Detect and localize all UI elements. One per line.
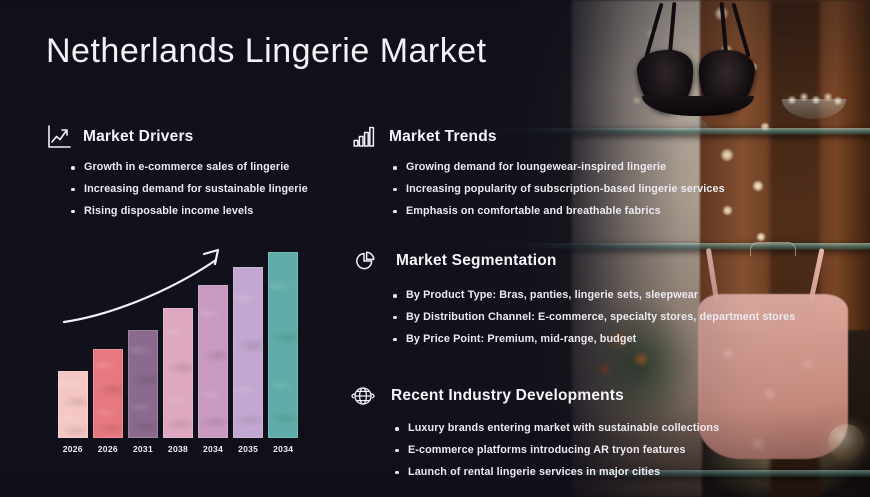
chart-x-label: 2038 — [163, 444, 193, 454]
chart-bar — [198, 285, 228, 438]
section-market-trends: Market Trends Growing demand for loungew… — [352, 124, 725, 228]
list-item: By Product Type: Bras, panties, lingerie… — [390, 290, 795, 302]
section-header: Market Trends — [352, 124, 725, 150]
bullet-list: Luxury brands entering market with susta… — [392, 423, 719, 479]
section-header: Market Drivers — [46, 124, 308, 150]
chart-bar — [268, 252, 298, 438]
bullet-list: By Product Type: Bras, panties, lingerie… — [390, 290, 795, 346]
list-item: E-commerce platforms introducing AR tryo… — [392, 445, 719, 457]
chart-bar — [128, 330, 158, 438]
section-title: Market Segmentation — [396, 252, 557, 270]
section-title: Recent Industry Developments — [391, 387, 624, 405]
chart-x-label: 2026 — [93, 444, 123, 454]
chart-bars — [58, 252, 298, 438]
list-item: Increasing popularity of subscription-ba… — [390, 184, 725, 196]
section-market-drivers: Market Drivers Growth in e-commerce sale… — [46, 124, 308, 228]
line-chart-growth-icon — [46, 124, 72, 150]
chart-x-label: 2034 — [198, 444, 228, 454]
section-title: Market Trends — [389, 128, 497, 146]
bullet-list: Growing demand for loungewear-inspired l… — [390, 162, 725, 218]
list-item: By Price Point: Premium, mid-range, budg… — [390, 334, 795, 346]
globe-icon — [350, 383, 376, 409]
list-item: By Distribution Channel: E-commerce, spe… — [390, 312, 795, 324]
section-header: Recent Industry Developments — [350, 383, 719, 409]
section-market-segmentation: Market Segmentation By Product Type: Bra… — [352, 248, 795, 356]
chart-x-axis-labels: 2026202620312038203420352034 — [58, 444, 298, 462]
growth-bar-chart: 2026202620312038203420352034 — [46, 236, 308, 466]
chart-bar — [58, 371, 88, 438]
list-item: Growing demand for loungewear-inspired l… — [390, 162, 725, 174]
chart-bar — [233, 267, 263, 438]
list-item: Launch of rental lingerie services in ma… — [392, 467, 719, 479]
bar-chart-icon — [352, 124, 378, 150]
chart-x-label: 2035 — [233, 444, 263, 454]
section-recent-industry-developments: Recent Industry Developments Luxury bran… — [350, 383, 719, 489]
chart-bar — [93, 349, 123, 438]
chart-bar — [163, 308, 193, 438]
section-title: Market Drivers — [83, 128, 194, 146]
chart-x-label: 2034 — [268, 444, 298, 454]
section-header: Market Segmentation — [352, 248, 795, 274]
list-item: Increasing demand for sustainable linger… — [68, 184, 308, 196]
list-item: Emphasis on comfortable and breathable f… — [390, 206, 725, 218]
list-item: Luxury brands entering market with susta… — [392, 423, 719, 435]
chart-x-label: 2031 — [128, 444, 158, 454]
pie-chart-icon — [352, 248, 378, 274]
bullet-list: Growth in e-commerce sales of lingerie I… — [68, 162, 308, 218]
list-item: Rising disposable income levels — [68, 206, 308, 218]
list-item: Growth in e-commerce sales of lingerie — [68, 162, 308, 174]
page-title: Netherlands Lingerie Market — [46, 32, 487, 71]
chart-x-label: 2026 — [58, 444, 88, 454]
